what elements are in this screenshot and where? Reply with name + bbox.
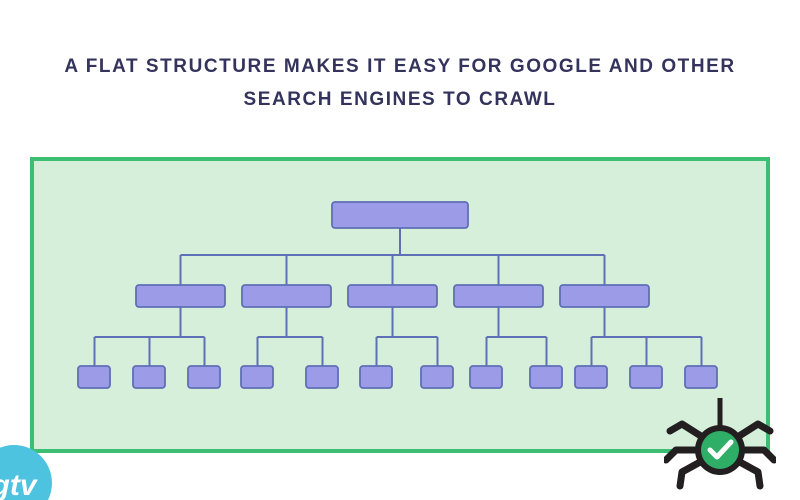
- spider-body: [701, 431, 739, 469]
- page-title-line-2: SEARCH ENGINES TO CRAWL: [0, 83, 800, 116]
- node-level3[interactable]: [188, 366, 220, 388]
- crawler-spider-icon: [664, 398, 776, 496]
- node-level2[interactable]: [560, 285, 649, 307]
- page-title-line-1: A FLAT STRUCTURE MAKES IT EASY FOR GOOGL…: [0, 50, 800, 83]
- node-level2[interactable]: [454, 285, 543, 307]
- node-level3[interactable]: [78, 366, 110, 388]
- node-level3[interactable]: [133, 366, 165, 388]
- node-level3[interactable]: [360, 366, 392, 388]
- node-level3[interactable]: [241, 366, 273, 388]
- node-level3[interactable]: [575, 366, 607, 388]
- logo-text: gtv: [0, 469, 39, 500]
- node-level3[interactable]: [530, 366, 562, 388]
- node-level3[interactable]: [306, 366, 338, 388]
- node-level3[interactable]: [685, 366, 717, 388]
- node-level2[interactable]: [348, 285, 437, 307]
- flat-site-structure-diagram: [30, 157, 770, 453]
- node-level2[interactable]: [242, 285, 331, 307]
- screenshot-root: A FLAT STRUCTURE MAKES IT EASY FOR GOOGL…: [0, 0, 800, 500]
- node-level3[interactable]: [421, 366, 453, 388]
- brand-logo[interactable]: gtv: [0, 443, 54, 500]
- page-title: A FLAT STRUCTURE MAKES IT EASY FOR GOOGL…: [0, 50, 800, 116]
- node-level3[interactable]: [470, 366, 502, 388]
- node-root[interactable]: [332, 202, 468, 228]
- node-level2[interactable]: [136, 285, 225, 307]
- diagram-nodes: [78, 202, 717, 388]
- node-level3[interactable]: [630, 366, 662, 388]
